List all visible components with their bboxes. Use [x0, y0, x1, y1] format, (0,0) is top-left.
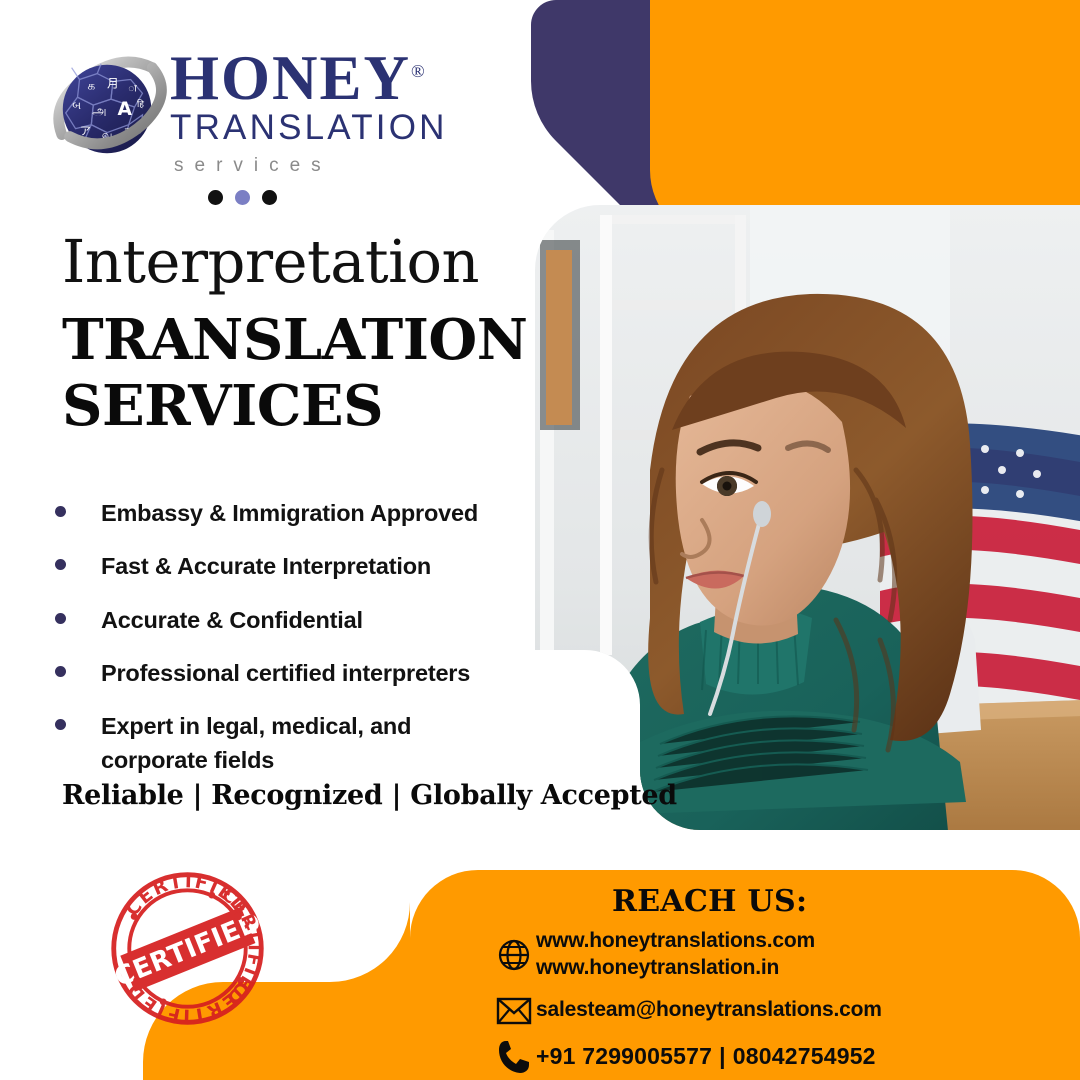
email-address[interactable]: salesteam@honeytranslations.com — [536, 997, 882, 1024]
list-item-label: Professional certified interpreters — [101, 657, 470, 690]
phone-separator: | — [712, 1042, 733, 1071]
website-2[interactable]: www.honeytranslation.in — [536, 956, 779, 979]
list-item-label: Fast & Accurate Interpretation — [101, 550, 431, 583]
headline-bold-line1: TRANSLATION — [62, 307, 532, 373]
dot-1 — [208, 190, 223, 205]
globe-languages-icon: க 月 ा બ அ A हि ア வ ভ — [50, 50, 168, 168]
svg-text:A: A — [118, 99, 133, 120]
svg-text:हि: हि — [137, 99, 144, 110]
list-item: Embassy & Immigration Approved — [55, 497, 555, 530]
phone-1[interactable]: +91 7299005577 — [536, 1043, 712, 1069]
bullet-icon — [55, 666, 66, 677]
list-item-label: Expert in legal, medical, and corporate … — [101, 710, 446, 777]
bullet-icon — [55, 719, 66, 730]
tagline: Reliable | Recognized | Globally Accepte… — [62, 780, 677, 811]
features-list: Embassy & Immigration Approved Fast & Ac… — [55, 497, 555, 797]
list-item: Fast & Accurate Interpretation — [55, 550, 555, 583]
contact-row-website[interactable]: www.honeytranslations.com www.honeytrans… — [492, 928, 1052, 982]
certified-stamp-icon: CERTIFIED CERTIFIED CERTIFIED CERTIFIED — [105, 866, 270, 1031]
list-item: Accurate & Confidential — [55, 604, 555, 637]
phone-2[interactable]: 08042754952 — [733, 1043, 876, 1069]
dot-2 — [235, 190, 250, 205]
website-1[interactable]: www.honeytranslations.com — [536, 929, 815, 952]
logo-name: HONEY — [170, 43, 411, 113]
headline-bold-line2: SERVICES — [62, 373, 532, 439]
logo-line-translation: TRANSLATION — [170, 108, 470, 148]
contact-heading: REACH US: — [612, 884, 807, 919]
contact-details: www.honeytranslations.com www.honeytrans… — [492, 928, 1052, 1080]
logo-wordmark: HONEY® TRANSLATION services — [170, 46, 470, 177]
brand-logo[interactable]: க 月 ा બ அ A हि ア வ ভ HONEY® TRANSLATION … — [50, 46, 470, 206]
bullet-icon — [55, 613, 66, 624]
contact-row-email[interactable]: salesteam@honeytranslations.com — [492, 996, 1052, 1026]
logo-line-services: services — [170, 155, 470, 177]
svg-text:બ: બ — [72, 99, 81, 112]
bullet-icon — [55, 506, 66, 517]
envelope-icon — [492, 996, 536, 1026]
svg-text:月: 月 — [107, 76, 119, 90]
contact-row-phone[interactable]: +91 7299005577|08042754952 — [492, 1038, 1052, 1076]
poster-canvas: க 月 ा બ அ A हि ア வ ভ HONEY® TRANSLATION … — [0, 0, 1080, 1080]
phone-icon — [492, 1038, 536, 1076]
dot-3 — [262, 190, 277, 205]
svg-text:ア: ア — [80, 125, 91, 138]
decorative-dots — [208, 190, 277, 205]
svg-text:க: க — [88, 78, 96, 92]
globe-icon — [492, 937, 536, 973]
bullet-icon — [55, 559, 66, 570]
list-item-label: Embassy & Immigration Approved — [101, 497, 478, 530]
registered-mark-icon: ® — [411, 61, 425, 81]
svg-text:அ: அ — [92, 104, 106, 119]
headline-bold: TRANSLATION SERVICES — [62, 307, 532, 439]
list-item: Professional certified interpreters — [55, 657, 555, 690]
headline-script: Interpretation — [62, 232, 532, 291]
svg-text:ा: ा — [128, 83, 137, 94]
page-title: Interpretation TRANSLATION SERVICES — [62, 232, 532, 439]
list-item: Expert in legal, medical, and corporate … — [55, 710, 555, 777]
list-item-label: Accurate & Confidential — [101, 604, 363, 637]
